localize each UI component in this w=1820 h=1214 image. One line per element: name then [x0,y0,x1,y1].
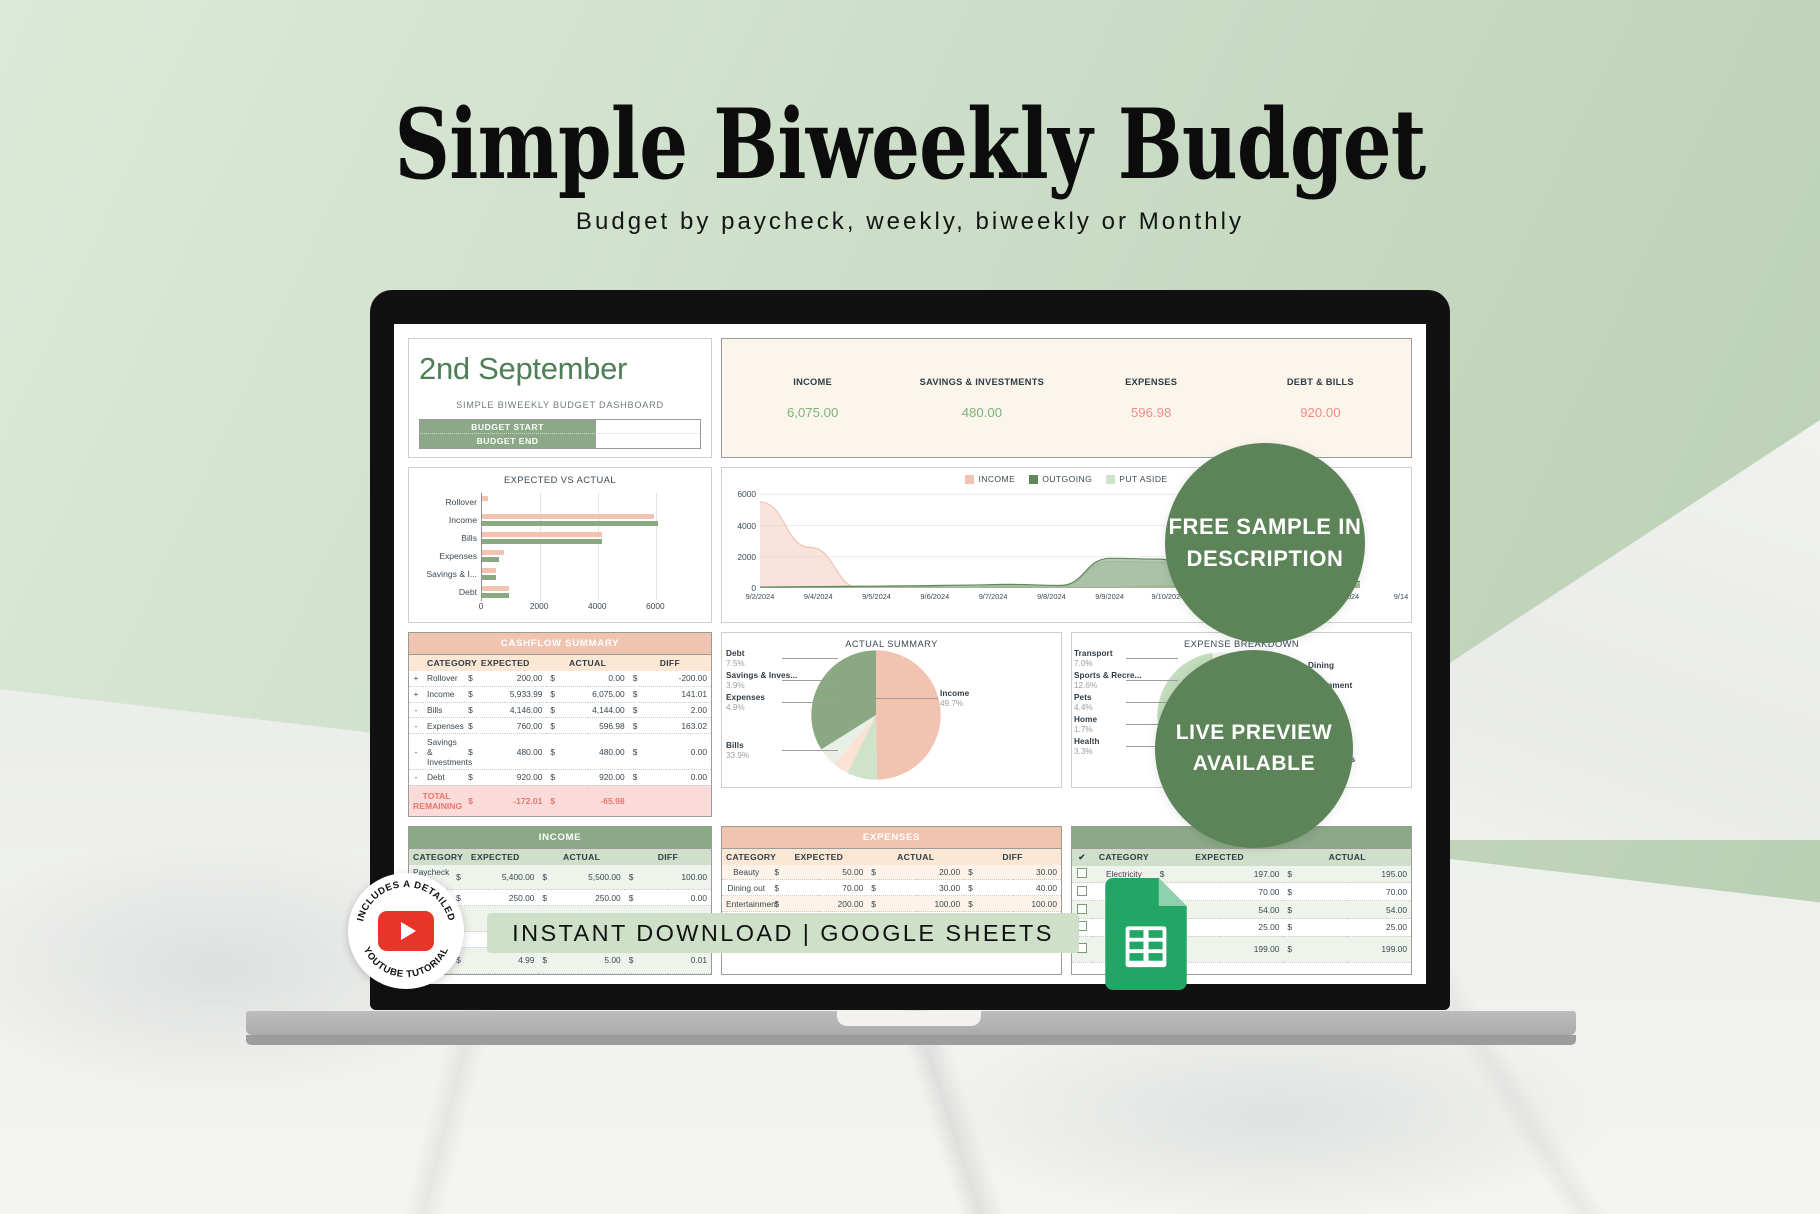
bills-expected: 25.00 [1220,919,1284,937]
currency-symbol: $ [964,865,1012,880]
legend-swatch-icon [1029,475,1038,484]
dashboard-subtitle: SIMPLE BIWEEKLY BUDGET DASHBOARD [419,400,701,410]
kpi-debt-bills-value: 920.00 [1236,405,1405,420]
budget-period-fields: BUDGET START BUDGET END [419,419,701,449]
bills-actual: 199.00 [1347,936,1411,962]
live-preview-badge: LIVE PREVIEW AVAILABLE [1155,650,1353,848]
bar-chart-bar [482,532,602,537]
bar-chart-group [482,565,699,583]
bar-chart-bar [482,521,658,526]
expected-vs-actual-chart: EXPECTED VS ACTUAL RolloverIncomeBillsEx… [408,467,712,623]
currency-symbol: $ [538,890,581,906]
cashflow-sign: + [409,671,423,686]
bar-chart-bar [482,550,504,555]
budget-end-label: BUDGET END [420,434,595,448]
bills-expected: 70.00 [1220,883,1284,901]
cashflow-table: CATEGORY EXPECTED ACTUAL DIFF +Rollover$… [409,655,711,816]
bar-chart-category-label: Rollover [417,493,481,511]
bills-expected: 197.00 [1220,866,1284,883]
cashflow-category: Rollover [423,671,464,686]
kpi-debt-bills-label: DEBT & BILLS [1236,377,1405,387]
bar-chart-bar [482,496,488,501]
table-row: -Debt$920.00$920.00$0.00 [409,769,711,785]
bar-chart-bar [482,586,509,591]
currency-symbol: $ [770,865,818,880]
cashflow-category: Savings & Investments [423,734,464,770]
bar-chart-group [482,583,699,601]
bar-chart-bar [482,575,496,580]
cashflow-col-actual: ACTUAL [546,655,628,671]
currency-symbol: $ [770,896,818,912]
pie-leader-line [782,750,838,751]
currency-symbol: $ [546,769,587,785]
pie-slice-label: Transport [1074,649,1113,658]
kpi-strip: INCOME 6,075.00 SAVINGS & INVESTMENTS 48… [721,338,1412,458]
bar-chart-group [482,529,699,547]
currency-symbol: $ [546,718,587,734]
currency-symbol: $ [464,686,505,702]
google-sheets-icon [1105,878,1187,990]
area-chart-x-tick: 9/9/2024 [1095,592,1124,601]
currency-symbol: $ [625,890,668,906]
currency-symbol: $ [546,686,587,702]
youtube-badge-curved-text: INCLUDES A DETAILED YOUTUBE TUTORIAL [348,873,464,989]
cashflow-expected: 480.00 [505,734,546,770]
table-row: -Expenses$760.00$596.98$163.02 [409,718,711,734]
bills-actual: 54.00 [1347,901,1411,919]
bar-chart-group [482,511,699,529]
bar-chart-bar [482,539,602,544]
cashflow-expected: 5,933.99 [505,686,546,702]
kpi-savings: SAVINGS & INVESTMENTS 480.00 [897,377,1066,420]
legend-label: PUT ASIDE [1119,474,1167,484]
cashflow-sign: - [409,718,423,734]
pie-slice-label: Health [1074,737,1100,746]
currency-symbol: $ [546,734,587,770]
budget-dashboard: 2nd September SIMPLE BIWEEKLY BUDGET DAS… [394,324,1426,975]
free-sample-badge: FREE SAMPLE IN DESCRIPTION [1165,443,1365,643]
kpi-savings-value: 480.00 [897,405,1066,420]
pie-slice-percent: 4.4% [1074,703,1093,712]
cashflow-category: Debt [423,769,464,785]
cashflow-actual: 596.98 [588,718,629,734]
cashflow-diff: 141.01 [670,686,711,702]
kpi-income-label: INCOME [728,377,897,387]
pie-slice-percent: 7.5% [726,659,745,668]
area-chart-y-tick: 2000 [730,552,756,562]
dashboard-header-row: 2nd September SIMPLE BIWEEKLY BUDGET DAS… [408,338,1412,458]
pie-leader-line [872,698,938,699]
youtube-badge-top-text: INCLUDES A DETAILED [355,879,457,923]
expenses-expected: 70.00 [819,880,867,896]
cashflow-header: CATEGORY EXPECTED ACTUAL DIFF [409,655,711,671]
bills-col-expected: EXPECTED [1156,849,1284,866]
currency-symbol: $ [464,702,505,718]
cashflow-actual: 4,144.00 [588,702,629,718]
pie-slice-label: Bills [726,741,744,750]
cashflow-sign: - [409,734,423,770]
currency-symbol: $ [770,880,818,896]
area-chart-x-tick: 9/14 [1394,592,1408,601]
bar-chart-bar [482,514,654,519]
cashflow-actual: 920.00 [588,769,629,785]
expenses-col-category: CATEGORY [722,849,770,865]
expense-breakdown-title: EXPENSE BREAKDOWN [1078,639,1405,649]
pie-leader-line [782,658,838,659]
expenses-expected: 200.00 [819,896,867,912]
bills-expected: 199.00 [1220,936,1284,962]
cashflow-expected: 4,146.00 [505,702,546,718]
legend-swatch-icon [1106,475,1115,484]
bar-chart-bar [482,568,496,573]
expenses-actual: 30.00 [916,880,964,896]
bar-chart-x-axis: 0200040006000 [481,601,699,615]
cashflow-expected: 200.00 [505,671,546,686]
bar-chart-category-label: Income [417,511,481,529]
pie-slice-label: Sports & Recre... [1074,671,1142,680]
pie-slice-label: Debt [726,649,745,658]
cashflow-actual: 480.00 [588,734,629,770]
area-chart-x-tick: 9/5/2024 [862,592,891,601]
bar-chart-tick: 4000 [588,601,606,611]
bills-col-check: ✔ [1072,849,1092,866]
income-col-category: CATEGORY [409,849,452,865]
expenses-category: Beauty [722,865,770,880]
currency-symbol: $ [464,671,505,686]
kpi-expenses: EXPENSES 596.98 [1067,377,1236,420]
area-chart-x-tick: 9/6/2024 [920,592,949,601]
income-col-expected: EXPECTED [452,849,538,865]
expenses-diff: 30.00 [1013,865,1061,880]
pie-slice-percent: 1.7% [1074,725,1093,734]
area-chart-x-tick: 9/4/2024 [804,592,833,601]
currency-symbol: $ [629,702,670,718]
bills-checkbox[interactable] [1072,883,1092,901]
legend-label: INCOME [978,474,1015,484]
laptop-body: 2nd September SIMPLE BIWEEKLY BUDGET DAS… [370,290,1450,1010]
cashflow-sign: - [409,702,423,718]
expected-vs-actual-title: EXPECTED VS ACTUAL [417,475,703,485]
bar-chart-category-label: Savings & I... [417,565,481,583]
expenses-col-expected: EXPECTED [770,849,867,865]
expenses-expected: 50.00 [819,865,867,880]
pie-leader-line [1126,658,1178,659]
area-chart-x-tick: 9/8/2024 [1037,592,1066,601]
laptop-mockup: 2nd September SIMPLE BIWEEKLY BUDGET DAS… [370,290,1450,1010]
cashflow-col-category: CATEGORY [423,655,464,671]
expenses-category: Entertainment [722,896,770,912]
currency-symbol: $ [1283,866,1347,883]
expenses-diff: 100.00 [1013,896,1061,912]
budget-end-input[interactable] [595,434,700,448]
actual-summary-title: ACTUAL SUMMARY [728,639,1055,649]
cta-label: INSTANT DOWNLOAD | GOOGLE SHEETS [512,920,1054,947]
budget-start-row: BUDGET START [420,420,700,434]
pie-slice-label: Income [940,689,969,698]
cashflow-diff: -200.00 [670,671,711,686]
cashflow-diff: 163.02 [670,718,711,734]
table-row: Dining out$70.00$30.00$40.00 [722,880,1061,896]
expenses-actual: 100.00 [916,896,964,912]
kpi-expenses-value: 596.98 [1067,405,1236,420]
area-chart-x-tick: 9/7/2024 [979,592,1008,601]
pie-slice-label: Home [1074,715,1097,724]
budget-end-row: BUDGET END [420,434,700,448]
cashflow-category: Expenses [423,718,464,734]
legend-item: INCOME [965,474,1015,484]
income-actual: 5,500.00 [582,865,625,890]
expenses-diff: 40.00 [1013,880,1061,896]
cashflow-sign: + [409,686,423,702]
cashflow-expected: 760.00 [505,718,546,734]
pie-slice-percent: 12.6% [1074,681,1097,690]
bills-actual: 25.00 [1347,919,1411,937]
bills-actual: 70.00 [1347,883,1411,901]
income-expected: 5,400.00 [495,865,538,890]
bar-chart-bars [481,493,699,601]
area-chart-y-tick: 4000 [730,521,756,531]
bills-header: ✔ CATEGORY EXPECTED ACTUAL [1072,849,1411,866]
cashflow-total-expected: -172.01 [505,785,546,816]
currency-symbol: $ [964,880,1012,896]
cashflow-summary-table: CASHFLOW SUMMARY CATEGORY EXPECTED ACTUA… [408,632,712,817]
dashboard-month: 2nd September [419,351,701,387]
legend-item: OUTGOING [1029,474,1092,484]
bar-chart-tick: 0 [479,601,484,611]
bar-chart-categories: RolloverIncomeBillsExpensesSavings & I..… [417,493,481,601]
cashflow-diff: 2.00 [670,702,711,718]
expenses-title: EXPENSES [722,827,1061,849]
legend-swatch-icon [965,475,974,484]
table-row: Entertainment$200.00$100.00$100.00 [722,896,1061,912]
pie-slice-label: Pets [1074,693,1092,702]
bar-chart-bar [482,557,499,562]
cashflow-actual: 0.00 [588,671,629,686]
pie-slice-percent: 3.9% [726,681,745,690]
currency-symbol: $ [629,671,670,686]
pie-slice-percent: 3.3% [1074,747,1093,756]
kpi-income-value: 6,075.00 [728,405,897,420]
expenses-header: CATEGORY EXPECTED ACTUAL DIFF [722,849,1061,865]
live-preview-badge-text: LIVE PREVIEW AVAILABLE [1155,718,1353,780]
pie-leader-line [1126,680,1178,681]
income-expected: 250.00 [495,890,538,906]
bar-chart-tick: 2000 [530,601,548,611]
actual-summary-pie [810,649,942,781]
income-diff: 100.00 [668,865,711,890]
bar-chart-category-label: Bills [417,529,481,547]
currency-symbol: $ [629,718,670,734]
checkbox-icon[interactable] [1077,904,1087,914]
pie-slice [876,650,941,779]
pie-slice-label: Expenses [726,693,765,702]
currency-symbol: $ [1283,919,1347,937]
bills-col-category: CATEGORY [1092,849,1156,866]
table-row: +Rollover$200.00$0.00$-200.00 [409,671,711,686]
bar-chart-group [482,547,699,565]
budget-start-input[interactable] [595,420,700,434]
currency-symbol: $ [538,865,581,890]
cta-instant-download[interactable]: INSTANT DOWNLOAD | GOOGLE SHEETS [487,913,1079,953]
cashflow-diff: 0.00 [670,769,711,785]
cashflow-sign: - [409,769,423,785]
currency-symbol: $ [964,896,1012,912]
bar-chart-category-label: Debt [417,583,481,601]
expenses-category: Dining out [722,880,770,896]
area-chart-x-tick: 9/2/2024 [746,592,775,601]
currency-symbol: $ [867,865,915,880]
bar-chart-plot: RolloverIncomeBillsExpensesSavings & I..… [417,489,703,607]
currency-symbol: $ [625,865,668,890]
expenses-col-actual: ACTUAL [867,849,964,865]
actual-summary-chart: ACTUAL SUMMARY Income49.7%Debt7.5%Saving… [721,632,1062,788]
area-chart-y-tick: 6000 [730,489,756,499]
table-row: +Income$5,933.99$6,075.00$141.01 [409,686,711,702]
bills-checkbox[interactable] [1072,866,1092,883]
cashflow-category: Bills [423,702,464,718]
kpi-income: INCOME 6,075.00 [728,377,897,420]
currency-symbol: $ [464,718,505,734]
free-sample-badge-text: FREE SAMPLE IN DESCRIPTION [1165,511,1365,576]
pie-slice-percent: 7.0% [1074,659,1093,668]
income-col-diff: DIFF [625,849,711,865]
cashflow-summary-title: CASHFLOW SUMMARY [409,633,711,655]
currency-symbol: $ [629,734,670,770]
currency-symbol: $ [867,880,915,896]
pie-leader-line [782,702,838,703]
expenses-col-diff: DIFF [964,849,1061,865]
currency-symbol: $ [629,686,670,702]
bills-actual: 195.00 [1347,866,1411,883]
cashflow-col-diff: DIFF [629,655,711,671]
cashflow-footer: TOTAL REMAINING $ -172.01 $ -65.98 [409,785,711,816]
cashflow-expected: 920.00 [505,769,546,785]
currency-symbol: $ [546,702,587,718]
kpi-debt-bills: DEBT & BILLS 920.00 [1236,377,1405,420]
expenses-actual: 20.00 [916,865,964,880]
kpi-savings-label: SAVINGS & INVESTMENTS [897,377,1066,387]
legend-item: PUT ASIDE [1106,474,1167,484]
youtube-badge-bottom-text: YOUTUBE TUTORIAL [361,945,451,980]
table-row: -Savings & Investments$480.00$480.00$0.0… [409,734,711,770]
cashflow-total-label: TOTAL REMAINING [409,785,464,816]
checkbox-icon[interactable] [1077,886,1087,896]
laptop-notch [837,1011,981,1026]
checkbox-icon[interactable] [1077,868,1087,878]
income-header: CATEGORY EXPECTED ACTUAL DIFF [409,849,711,865]
currency-symbol: $ [1283,883,1347,901]
cashflow-actual: 6,075.00 [588,686,629,702]
bar-chart-category-label: Expenses [417,547,481,565]
currency-symbol: $ [1283,901,1347,919]
pie-slice-percent: 49.7% [940,699,963,708]
dashboard-title-panel: 2nd September SIMPLE BIWEEKLY BUDGET DAS… [408,338,712,458]
cashflow-category: Income [423,686,464,702]
currency-symbol: $ [629,769,670,785]
currency-symbol: $ [1283,936,1347,962]
page-title: Simple Biweekly Budget [182,96,1638,194]
bar-chart-group [482,493,699,511]
kpi-expenses-label: EXPENSES [1067,377,1236,387]
bills-expected: 54.00 [1220,901,1284,919]
income-col-actual: ACTUAL [538,849,624,865]
budget-start-label: BUDGET START [420,420,595,434]
currency-symbol: $ [464,769,505,785]
income-actual: 250.00 [582,890,625,906]
currency-symbol: $ [546,671,587,686]
legend-label: OUTGOING [1042,474,1092,484]
cashflow-diff: 0.00 [670,734,711,770]
bar-chart-bar [482,593,509,598]
currency-symbol: $ [867,896,915,912]
table-row: -Bills$4,146.00$4,144.00$2.00 [409,702,711,718]
laptop-foot [246,1035,1576,1045]
youtube-tutorial-badge: INCLUDES A DETAILED YOUTUBE TUTORIAL [348,873,464,989]
bar-chart-tick: 6000 [646,601,664,611]
cashflow-total-actual: -65.98 [588,785,629,816]
pie-slice-percent: 33.9% [726,751,749,760]
pie-slice-percent: 4.9% [726,703,745,712]
page-subtitle: Budget by paycheck, weekly, biweekly or … [18,208,1802,236]
table-row: Beauty$50.00$20.00$30.00 [722,865,1061,880]
income-diff: 0.00 [668,890,711,906]
bills-col-actual: ACTUAL [1283,849,1411,866]
income-title: INCOME [409,827,711,849]
pie-slice-label: Savings & Inves... [726,671,797,680]
cashflow-body: +Rollover$200.00$0.00$-200.00+Income$5,9… [409,671,711,785]
hero-header: Simple Biweekly Budget Budget by paychec… [0,96,1820,236]
pie-leader-line [782,680,838,681]
